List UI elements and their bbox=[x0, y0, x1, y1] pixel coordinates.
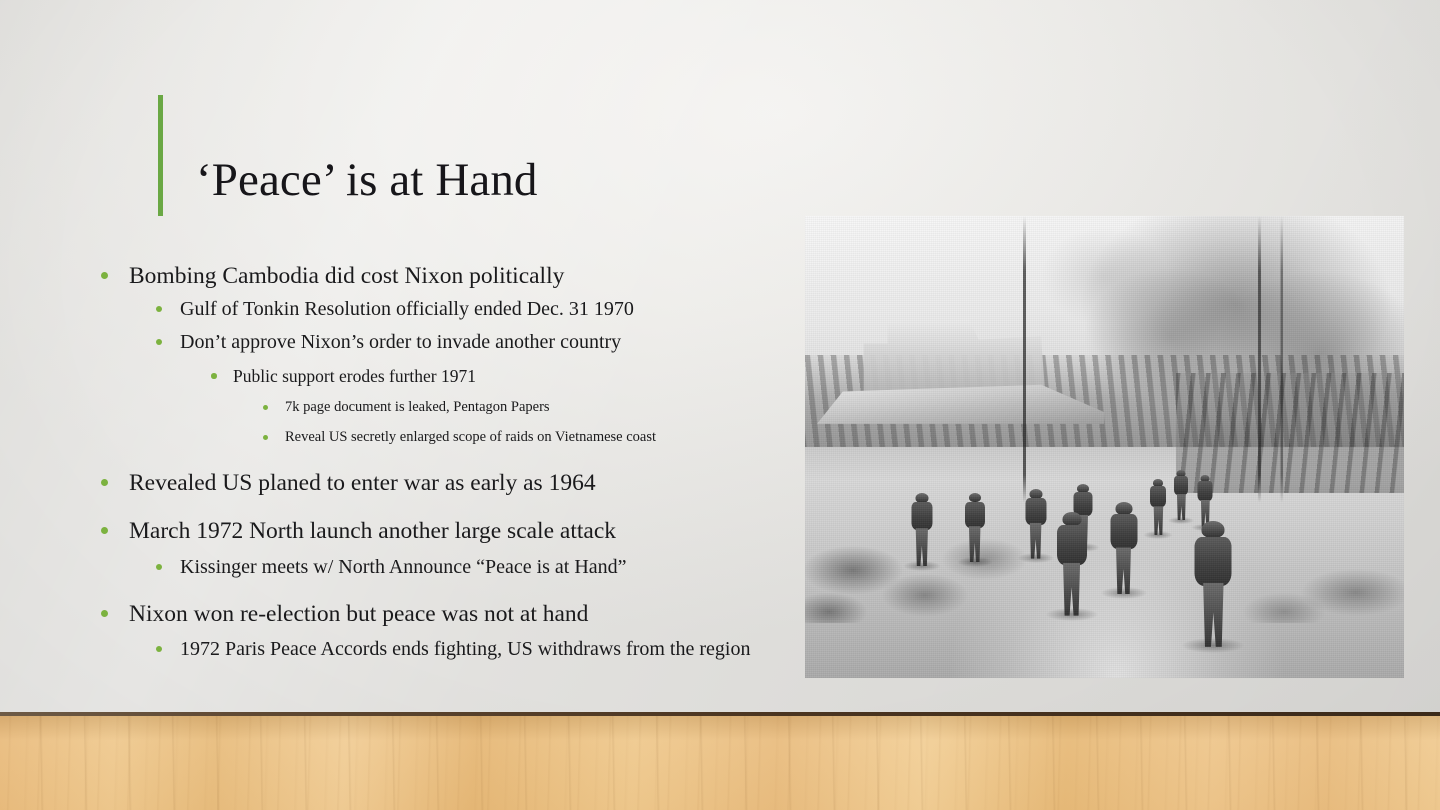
soldier-figure bbox=[1105, 502, 1143, 594]
soldier-figure bbox=[1194, 475, 1216, 527]
list-item: Kissinger meets w/ North Announce “Peace… bbox=[0, 554, 627, 581]
list-item-label: 7k page document is leaked, Pentagon Pap… bbox=[285, 397, 550, 418]
title-accent-bar bbox=[158, 95, 163, 216]
slide: ‘Peace’ is at Hand Bombing Cambodia did … bbox=[0, 0, 1440, 810]
bullet-dot-icon bbox=[101, 610, 108, 617]
list-item: Public support erodes further 1971 bbox=[0, 364, 476, 388]
page-title: ‘Peace’ is at Hand bbox=[196, 152, 538, 208]
list-item: 7k page document is leaked, Pentagon Pap… bbox=[0, 397, 550, 418]
list-item-label: Revealed US planed to enter war as early… bbox=[129, 468, 596, 499]
list-item: Revealed US planed to enter war as early… bbox=[0, 468, 596, 499]
list-item: Nixon won re-election but peace was not … bbox=[0, 599, 588, 630]
bullet-dot-icon bbox=[156, 306, 162, 312]
bullet-dot-icon bbox=[156, 646, 162, 652]
bullet-dot-icon bbox=[156, 564, 162, 570]
bullet-dot-icon bbox=[101, 527, 108, 534]
list-item: Reveal US secretly enlarged scope of rai… bbox=[0, 427, 656, 448]
soldier-figure bbox=[961, 493, 989, 563]
soldier-figure bbox=[1188, 521, 1238, 647]
list-item-label: Gulf of Tonkin Resolution officially end… bbox=[180, 296, 634, 323]
bullet-dot-icon bbox=[263, 405, 268, 410]
bullet-dot-icon bbox=[101, 479, 108, 486]
list-item-label: Don’t approve Nixon’s order to invade an… bbox=[180, 329, 621, 356]
list-item-label: March 1972 North launch another large sc… bbox=[129, 516, 616, 547]
list-item-label: Public support erodes further 1971 bbox=[233, 364, 476, 388]
list-item: Gulf of Tonkin Resolution officially end… bbox=[0, 296, 634, 323]
list-item: Bombing Cambodia did cost Nixon politica… bbox=[0, 261, 564, 292]
bullet-dot-icon bbox=[101, 272, 108, 279]
list-item: March 1972 North launch another large sc… bbox=[0, 516, 616, 547]
list-item-label: Reveal US secretly enlarged scope of rai… bbox=[285, 427, 656, 448]
wood-floor bbox=[0, 716, 1440, 810]
bullet-dot-icon bbox=[211, 373, 217, 379]
list-item: Don’t approve Nixon’s order to invade an… bbox=[0, 329, 621, 356]
list-item-label: Bombing Cambodia did cost Nixon politica… bbox=[129, 261, 564, 292]
bullet-dot-icon bbox=[156, 339, 162, 345]
war-photograph bbox=[805, 216, 1404, 678]
photo-poles bbox=[805, 216, 1404, 678]
soldier-figure bbox=[1146, 479, 1170, 535]
list-item-label: Nixon won re-election but peace was not … bbox=[129, 599, 588, 630]
soldier-figure bbox=[1051, 512, 1093, 616]
soldier-figure bbox=[1170, 470, 1192, 520]
soldier-figure bbox=[1021, 489, 1051, 559]
soldier-figure bbox=[907, 493, 937, 567]
list-item: 1972 Paris Peace Accords ends fighting, … bbox=[0, 636, 800, 663]
list-item-label: 1972 Paris Peace Accords ends fighting, … bbox=[180, 636, 800, 663]
list-item-label: Kissinger meets w/ North Announce “Peace… bbox=[180, 554, 627, 581]
bullet-dot-icon bbox=[263, 435, 268, 440]
